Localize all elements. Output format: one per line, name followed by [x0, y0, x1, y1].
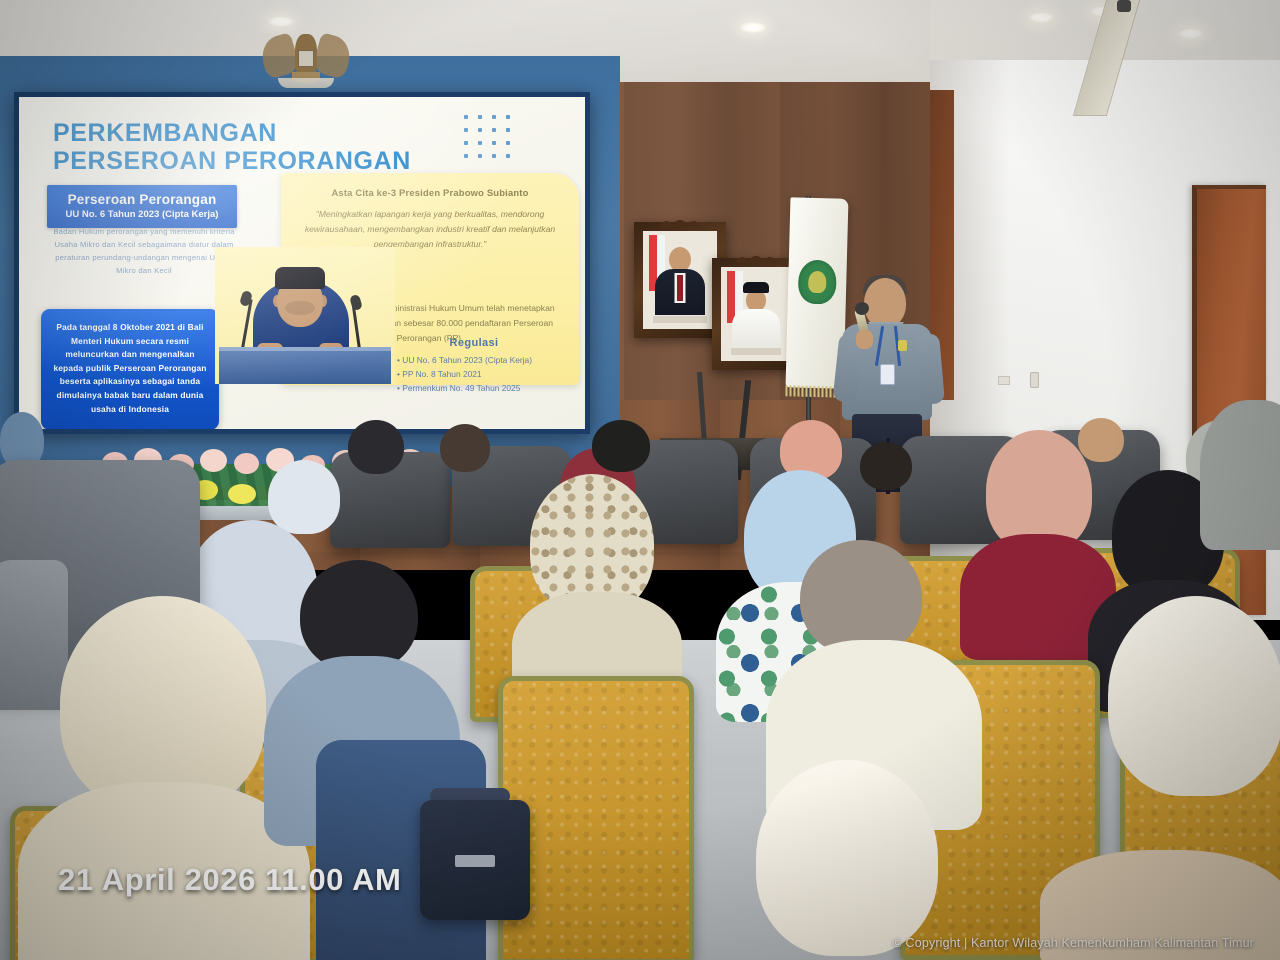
ceiling-downlight [740, 22, 766, 33]
slide-title-line2: PERSEROAN PERORANGAN [53, 147, 411, 175]
president-photo [215, 247, 395, 384]
slide-launch-note-card: Pada tanggal 8 Oktober 2021 di Bali Ment… [41, 309, 219, 429]
slide-badge-title: Perseroan Perorangan [53, 192, 231, 207]
sofa-armrest [0, 560, 68, 710]
regulation-item: UU No. 6 Tahun 2023 (Cipta Kerja) [397, 353, 569, 367]
wall-plate [998, 376, 1010, 385]
photo-scene: PERKEMBANGAN PERSEROAN PERORANGAN Perser… [0, 0, 1280, 960]
regulation-item: PP No. 8 Tahun 2021 [397, 367, 569, 381]
head [1078, 418, 1124, 462]
hijab [60, 596, 266, 812]
head [348, 420, 404, 474]
uniform-emblem-icon [898, 340, 907, 351]
portrait-uniform [732, 309, 780, 353]
head [860, 442, 912, 490]
ceiling-downlight [1178, 28, 1204, 39]
hijab [1108, 596, 1280, 796]
head [440, 424, 490, 472]
peci-cap [275, 267, 325, 289]
slide-definition-text: Badan Hukum perorangan yang memenuhi kri… [49, 225, 239, 277]
official-cap [743, 282, 769, 293]
slide-title-line1: PERKEMBANGAN [53, 119, 277, 147]
hijab [268, 460, 340, 534]
head [800, 540, 922, 656]
light-switch[interactable] [1030, 372, 1039, 388]
slide-launch-note-text: Pada tanggal 8 Oktober 2021 di Bali Ment… [51, 321, 209, 416]
projection-screen: PERKEMBANGAN PERSEROAN PERORANGAN Perser… [14, 92, 590, 434]
regulation-item: Permenkum No. 49 Tahun 2025 [397, 381, 569, 395]
ceiling-downlight [268, 16, 294, 27]
hijab [756, 760, 938, 956]
head [592, 420, 650, 472]
flag-emblem-icon [798, 260, 837, 305]
copyright-watermark: © Copyright | Kantor Wilayah Kemenkumham… [893, 936, 1254, 950]
slide-badge: Perseroan Perorangan UU No. 6 Tahun 2023… [47, 185, 237, 228]
regulation-heading: Regulasi [379, 337, 569, 349]
speaker-head [864, 278, 906, 328]
ceiling-downlight [1028, 12, 1054, 23]
slide-badge-subtitle: UU No. 6 Tahun 2023 (Cipta Kerja) [53, 209, 231, 220]
slide-title: PERKEMBANGAN PERSEROAN PERORANGAN [53, 119, 411, 175]
shoulders [1200, 400, 1280, 550]
security-camera-icon [1117, 0, 1131, 12]
bag-logo [455, 855, 495, 867]
regulation-list: Regulasi UU No. 6 Tahun 2023 (Cipta Kerj… [379, 337, 569, 395]
asta-cita-quote: "Meningkatkan lapangan kerja yang berkua… [295, 207, 565, 252]
asta-cita-heading: Asta Cita ke-3 Presiden Prabowo Subianto [281, 187, 579, 198]
garuda-pancasila-emblem [262, 28, 350, 90]
timestamp-overlay: 21 April 2026 11.00 AM [58, 862, 401, 898]
speaker-hand [856, 330, 873, 349]
podium [219, 351, 391, 384]
id-badge [880, 364, 895, 385]
dot-grid-decoration [464, 115, 520, 167]
